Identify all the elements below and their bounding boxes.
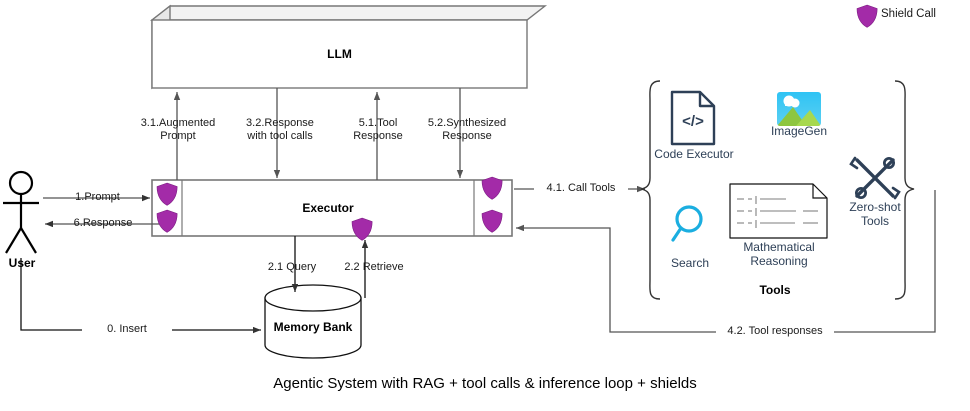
- image-thumbnail-icon: [777, 92, 821, 126]
- executor-label: Executor: [182, 201, 474, 215]
- tool-label-imagegen: ImageGen: [759, 124, 839, 138]
- edge-label-0-insert: 0. Insert: [82, 323, 172, 336]
- diagram-caption: Agentic System with RAG + tool calls & i…: [0, 375, 970, 392]
- edge-label-4-1-call-tools: 4.1. Call Tools: [534, 182, 628, 195]
- user-actor: [3, 172, 39, 253]
- shield-icon-memory-retrieve: [352, 218, 372, 240]
- llm-label: LLM: [152, 47, 527, 61]
- tool-label-code-executor: Code Executor: [646, 147, 742, 161]
- memory-bank-label: Memory Bank: [265, 320, 361, 334]
- diagram-vector-layer: </>: [0, 0, 970, 411]
- edge-label-4-2-tool-responses: 4.2. Tool responses: [716, 325, 834, 338]
- tool-label-search: Search: [655, 256, 725, 270]
- edge-label-3-2: 3.2.Response with tool calls: [232, 117, 328, 143]
- magnifier-icon: [673, 207, 701, 240]
- edge-label-3-1: 3.1.Augmented Prompt: [133, 117, 223, 143]
- diagram-canvas: </>: [0, 0, 970, 411]
- edge-label-5-2: 5.2.Synthesized Response: [418, 117, 516, 143]
- svg-text:</>: </>: [682, 113, 704, 130]
- edge-label-5-1: 5.1.Tool Response: [338, 117, 418, 143]
- formula-document-icon: [730, 184, 827, 238]
- edge-label-1-prompt: 1.Prompt: [55, 191, 140, 204]
- edge-0-insert: [21, 258, 261, 330]
- tool-label-zero-shot-tools: Zero-shot Tools: [830, 200, 920, 228]
- crossed-wrenches-icon: [851, 158, 899, 198]
- tool-label-math-reasoning: Mathematical Reasoning: [724, 240, 834, 268]
- tools-group-label: Tools: [715, 283, 835, 297]
- edge-label-2-1-query: 2.1 Query: [256, 261, 328, 274]
- code-document-icon: </>: [672, 92, 714, 144]
- shield-icon-legend: [857, 5, 877, 27]
- user-label: User: [0, 256, 44, 270]
- edge-label-2-2-retrieve: 2.2 Retrieve: [330, 261, 418, 274]
- legend-shield-label: Shield Call: [881, 8, 961, 21]
- edge-label-6-response: 6.Response: [52, 217, 154, 230]
